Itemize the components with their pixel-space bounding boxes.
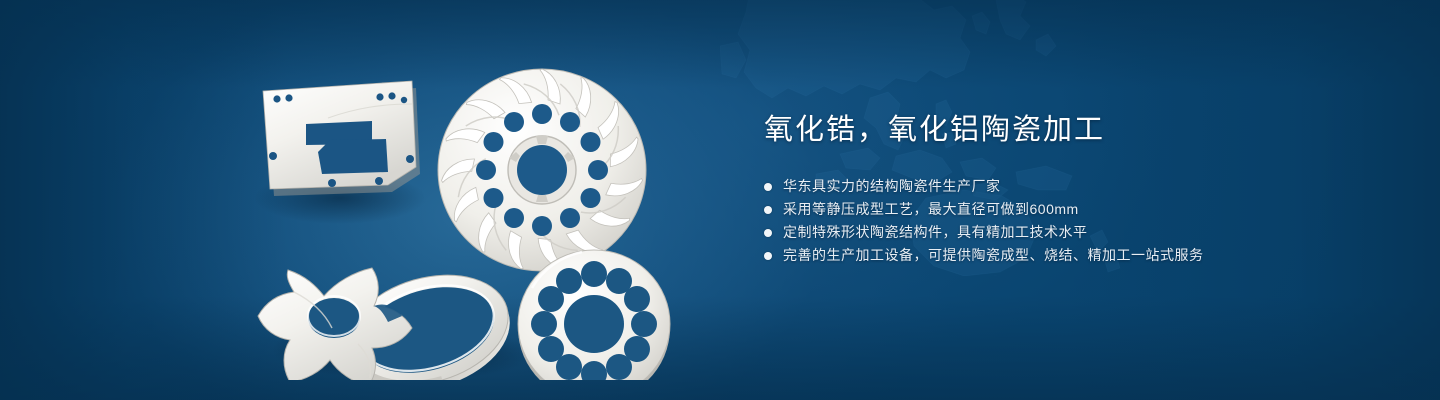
banner-copy: 氧化锆，氧化铝陶瓷加工 华东具实力的结构陶瓷件生产厂家 采用等静压成型工艺，最大…	[764, 110, 1384, 283]
ceramic-machined-plate	[263, 81, 420, 196]
bullet-dot-icon	[764, 229, 772, 237]
feature-item-label: 完善的生产加工设备，可提供陶瓷成型、烧结、精加工一站式服务	[783, 244, 1204, 267]
feature-item: 华东具实力的结构陶瓷件生产厂家	[764, 175, 1384, 198]
bullet-dot-icon	[764, 183, 772, 191]
feature-item: 采用等静压成型工艺，最大直径可做到600mm	[764, 198, 1384, 221]
banner-headline: 氧化锆，氧化铝陶瓷加工	[764, 110, 1384, 150]
feature-item: 完善的生产加工设备，可提供陶瓷成型、烧结、精加工一站式服务	[764, 244, 1384, 267]
feature-list: 华东具实力的结构陶瓷件生产厂家 采用等静压成型工艺，最大直径可做到600mm 定…	[764, 175, 1384, 267]
ceramic-impeller-disc	[438, 69, 646, 273]
bullet-dot-icon	[764, 252, 772, 260]
ceramic-products-image	[232, 52, 684, 380]
feature-item-label: 采用等静压成型工艺，最大直径可做到600mm	[783, 198, 1079, 221]
feature-item: 定制特殊形状陶瓷结构件，具有精加工技术水平	[764, 221, 1384, 244]
promo-banner: 氧化锆，氧化铝陶瓷加工 华东具实力的结构陶瓷件生产厂家 采用等静压成型工艺，最大…	[0, 0, 1440, 400]
bullet-dot-icon	[764, 206, 772, 214]
feature-item-label: 华东具实力的结构陶瓷件生产厂家	[783, 175, 1001, 198]
feature-item-label: 定制特殊形状陶瓷结构件，具有精加工技术水平	[783, 221, 1088, 244]
